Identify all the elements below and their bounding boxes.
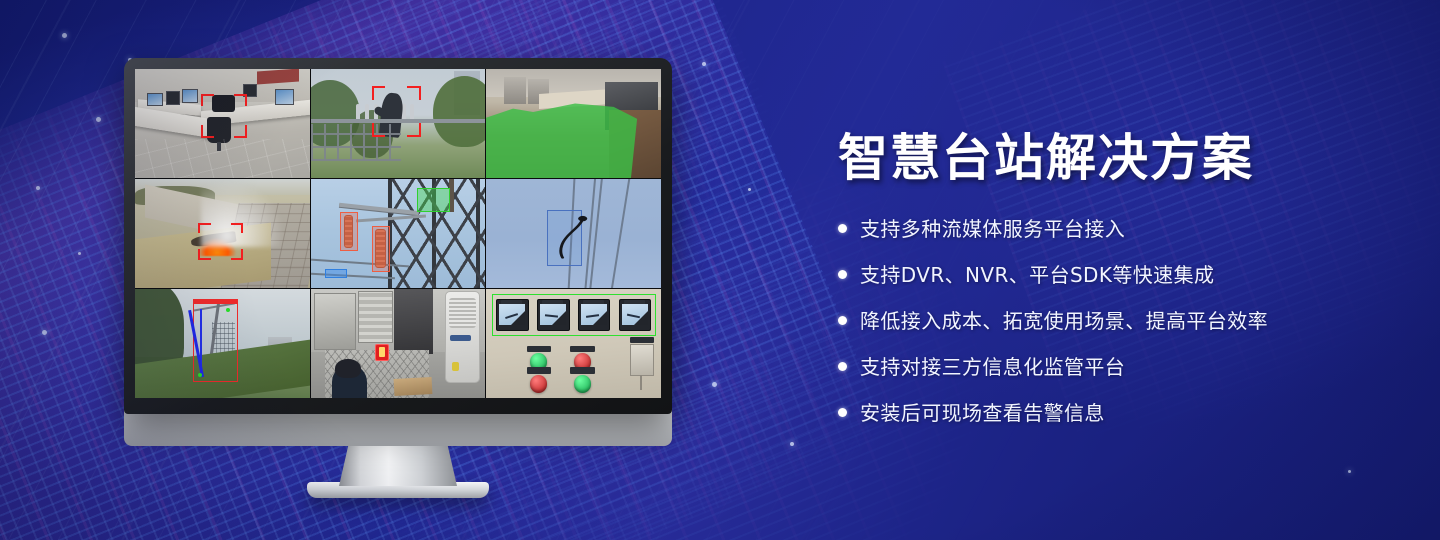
bullet-dot-icon <box>838 408 847 417</box>
bullet-dot-icon <box>838 270 847 279</box>
feature-item: 支持DVR、NVR、平台SDK等快速集成 <box>838 260 1398 290</box>
feature-item-label: 支持对接三方信息化监管平台 <box>860 352 1125 382</box>
bullet-dot-icon <box>838 362 847 371</box>
feature-item: 降低接入成本、拓宽使用场景、提高平台效率 <box>838 306 1398 336</box>
feature-item: 安装后可现场查看告警信息 <box>838 398 1398 428</box>
feature-item-label: 安装后可现场查看告警信息 <box>860 398 1105 428</box>
feature-item-label: 降低接入成本、拓宽使用场景、提高平台效率 <box>860 306 1268 336</box>
bullet-dot-icon <box>838 316 847 325</box>
feature-item-label: 支持DVR、NVR、平台SDK等快速集成 <box>860 260 1214 290</box>
feature-item: 支持对接三方信息化监管平台 <box>838 352 1398 382</box>
feature-item: 支持多种流媒体服务平台接入 <box>838 214 1398 244</box>
solution-banner: 智慧台站解决方案 支持多种流媒体服务平台接入 支持DVR、NVR、平台SDK等快… <box>0 0 1440 540</box>
banner-content: 智慧台站解决方案 支持多种流媒体服务平台接入 支持DVR、NVR、平台SDK等快… <box>838 130 1398 444</box>
bullet-dot-icon <box>838 224 847 233</box>
page-title: 智慧台站解决方案 <box>838 130 1398 188</box>
feature-list: 支持多种流媒体服务平台接入 支持DVR、NVR、平台SDK等快速集成 降低接入成… <box>838 214 1398 428</box>
feature-item-label: 支持多种流媒体服务平台接入 <box>860 214 1125 244</box>
